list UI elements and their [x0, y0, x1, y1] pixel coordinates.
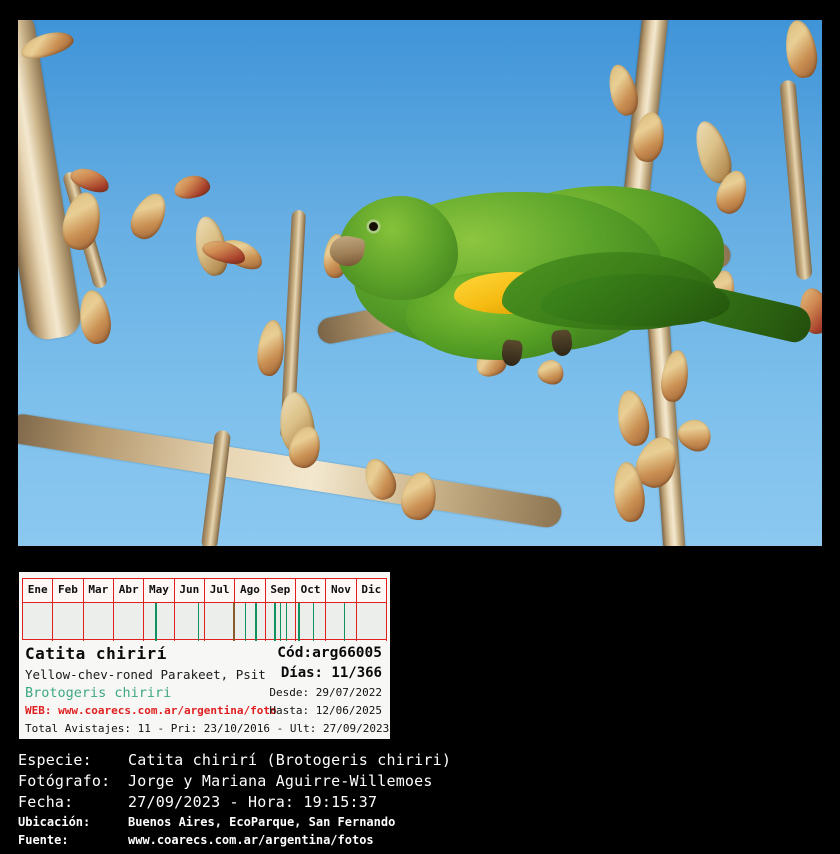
photo-metadata-block: Especie: Catita chirirí (Brotogeris chir…: [18, 750, 822, 849]
metadata-value-fuente[interactable]: www.coarecs.com.ar/argentina/fotos: [128, 831, 374, 849]
parakeet-eye: [369, 222, 378, 231]
card-code: Cód:arg66005: [277, 645, 382, 661]
card-date-to: Hasta: 12/06/2025: [269, 704, 382, 717]
month-header-ago: Ago: [235, 579, 265, 602]
metadata-value-fecha: 27/09/2023 - Hora: 19:15:37: [128, 792, 377, 813]
metadata-value-especie: Catita chirirí (Brotogeris chiriri): [128, 750, 451, 771]
month-cell-jun: [175, 603, 205, 641]
metadata-label-especie: Especie:: [18, 750, 128, 771]
metadata-label-fuente: Fuente:: [18, 831, 128, 849]
metadata-label-fotografo: Fotógrafo:: [18, 771, 128, 792]
card-days: Días: 11/366: [281, 665, 382, 681]
card-text-block: Catita chirirí Yellow-chev-roned Parakee…: [23, 644, 390, 739]
card-english-name: Yellow-chev-roned Parakeet, Psit: [25, 667, 266, 682]
month-header-dic: Dic: [357, 579, 387, 602]
month-header-mar: Mar: [84, 579, 114, 602]
metadata-value-ubicacion: Buenos Aires, EcoParque, San Fernando: [128, 813, 395, 831]
calendar-sighting-track: [23, 603, 387, 641]
month-cell-may: [144, 603, 174, 641]
month-header-ene: Ene: [23, 579, 53, 602]
card-common-name: Catita chirirí: [25, 644, 167, 663]
month-cell-ago: [235, 603, 265, 641]
month-cell-mar: [84, 603, 114, 641]
metadata-row-especie: Especie: Catita chirirí (Brotogeris chir…: [18, 750, 822, 771]
month-cell-nov: [326, 603, 356, 641]
card-date-from: Desde: 29/07/2022: [269, 686, 382, 699]
month-header-abr: Abr: [114, 579, 144, 602]
metadata-row-fotografo: Fotógrafo: Jorge y Mariana Aguirre-Wille…: [18, 771, 822, 792]
month-header-oct: Oct: [296, 579, 326, 602]
month-cell-jul: [205, 603, 235, 641]
metadata-label-fecha: Fecha:: [18, 792, 128, 813]
metadata-label-ubicacion: Ubicación:: [18, 813, 128, 831]
species-summary-card: Ene Feb Mar Abr May Jun Jul Ago Sep Oct …: [19, 572, 390, 739]
month-cell-abr: [114, 603, 144, 641]
month-cell-sep: [266, 603, 296, 641]
bird-photo: [18, 20, 822, 546]
month-header-nov: Nov: [326, 579, 356, 602]
month-cell-dic: [357, 603, 387, 641]
month-header-may: May: [144, 579, 174, 602]
card-total-sightings: Total Avistajes: 11 - Pri: 23/10/2016 - …: [25, 722, 389, 735]
metadata-row-fuente: Fuente: www.coarecs.com.ar/argentina/fot…: [18, 831, 822, 849]
month-cell-ene: [23, 603, 53, 641]
metadata-row-ubicacion: Ubicación: Buenos Aires, EcoParque, San …: [18, 813, 822, 831]
month-header-jul: Jul: [205, 579, 235, 602]
card-scientific-name: Brotogeris chiriri: [25, 685, 171, 701]
month-cell-feb: [53, 603, 83, 641]
parakeet-foot: [551, 329, 574, 357]
card-web-link[interactable]: WEB: www.coarecs.com.ar/argentina/foto: [25, 704, 277, 717]
month-header-sep: Sep: [266, 579, 296, 602]
month-header-feb: Feb: [53, 579, 83, 602]
calendar-month-headers: Ene Feb Mar Abr May Jun Jul Ago Sep Oct …: [23, 579, 387, 603]
parakeet: [314, 178, 794, 388]
month-header-jun: Jun: [175, 579, 205, 602]
sightings-month-calendar: Ene Feb Mar Abr May Jun Jul Ago Sep Oct …: [22, 578, 387, 640]
month-cell-oct: [296, 603, 326, 641]
parakeet-foot: [501, 339, 524, 367]
metadata-row-fecha: Fecha: 27/09/2023 - Hora: 19:15:37: [18, 792, 822, 813]
page-root: Ene Feb Mar Abr May Jun Jul Ago Sep Oct …: [0, 0, 840, 854]
metadata-value-fotografo: Jorge y Mariana Aguirre-Willemoes: [128, 771, 433, 792]
